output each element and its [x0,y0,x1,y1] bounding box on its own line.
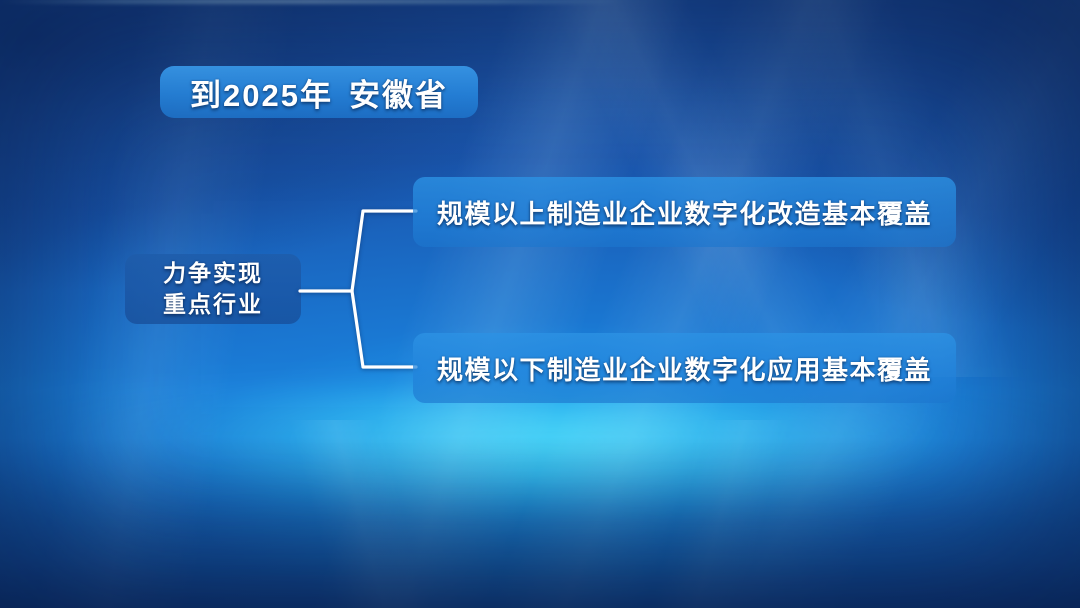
infographic-slide: 到2025年 安徽省 力争实现 重点行业 规模以上制造业企业数字化改造基本覆盖 … [0,0,1080,608]
root-node-line-2: 重点行业 [163,291,263,318]
background-horizon-line [0,0,620,3]
root-node-line-1: 力争实现 [163,260,263,287]
branch-node-1: 规模以上制造业企业数字化改造基本覆盖 [413,177,956,247]
slide-title-year: 到2025年 [190,70,333,115]
slide-title-banner: 到2025年 安徽省 [160,66,478,118]
background-floor-glow [0,390,1080,510]
root-node: 力争实现 重点行业 [125,254,301,324]
branch-node-2-label: 规模以下制造业企业数字化应用基本覆盖 [437,350,932,387]
branch-node-2: 规模以下制造业企业数字化应用基本覆盖 [413,333,956,403]
slide-title-region: 安徽省 [349,70,448,115]
branch-connector [296,196,426,386]
connector-branch-top [352,211,416,291]
connector-branch-bottom [352,291,416,367]
background-perspective-lines [0,420,1080,608]
branch-node-1-label: 规模以上制造业企业数字化改造基本覆盖 [437,194,932,231]
